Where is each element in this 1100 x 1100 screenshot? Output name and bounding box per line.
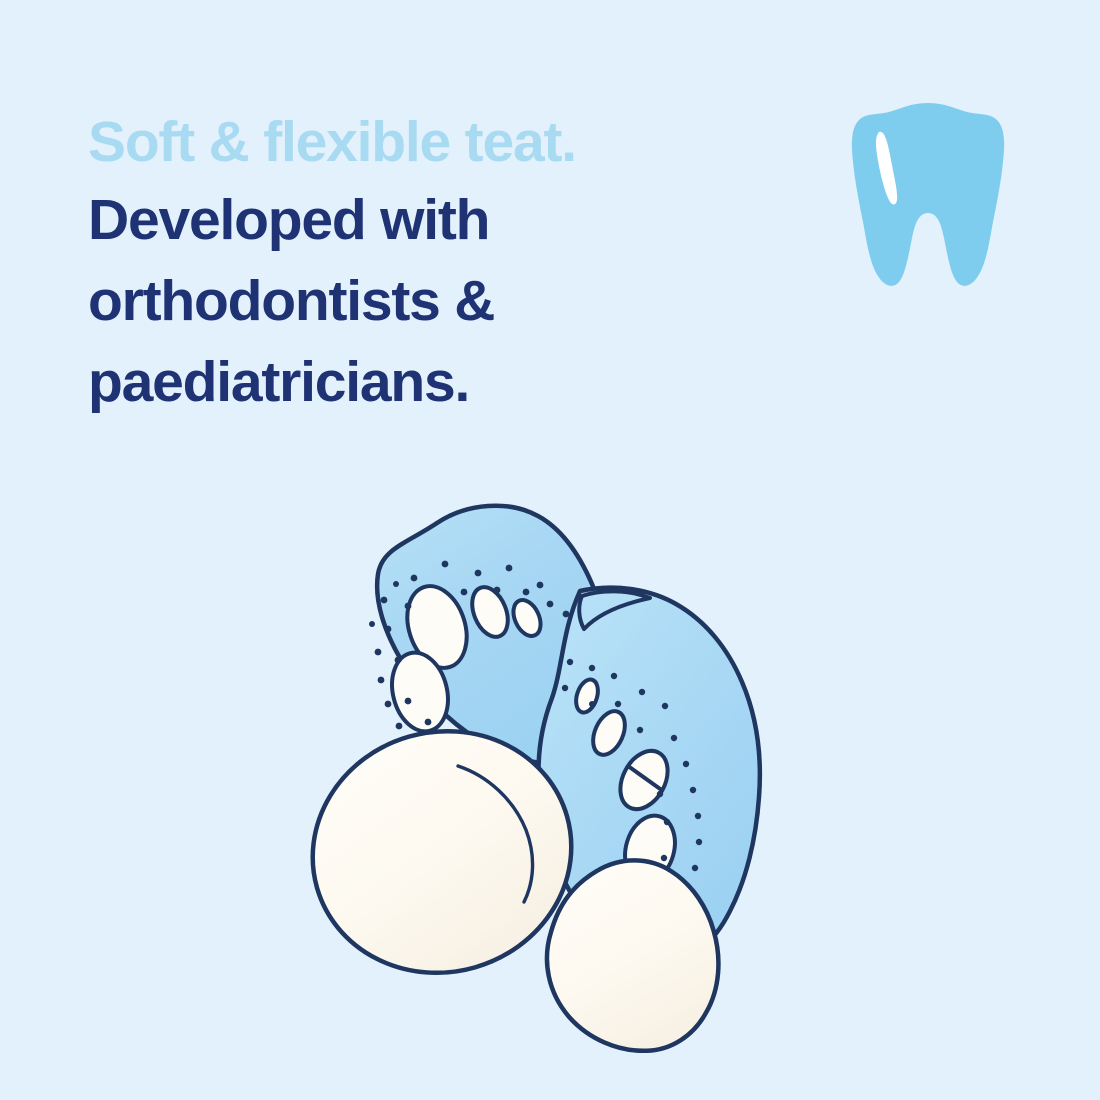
pacifier-wrapper xyxy=(262,492,842,1032)
product-feature-card: Soft & flexible teat. Developed with ort… xyxy=(0,0,1100,1100)
headline-line-1: Developed with xyxy=(88,180,788,261)
headline-block: Soft & flexible teat. Developed with ort… xyxy=(88,104,788,423)
headline-line-2: orthodontists & xyxy=(88,261,788,342)
headline-line-3: paediatricians. xyxy=(88,342,788,423)
tooth-body xyxy=(852,103,1004,286)
tooth-icon-wrapper xyxy=(848,96,1008,296)
tooth-icon xyxy=(848,96,1008,296)
pacifier-illustration xyxy=(262,492,842,1032)
eyebrow-text: Soft & flexible teat. xyxy=(88,104,788,180)
